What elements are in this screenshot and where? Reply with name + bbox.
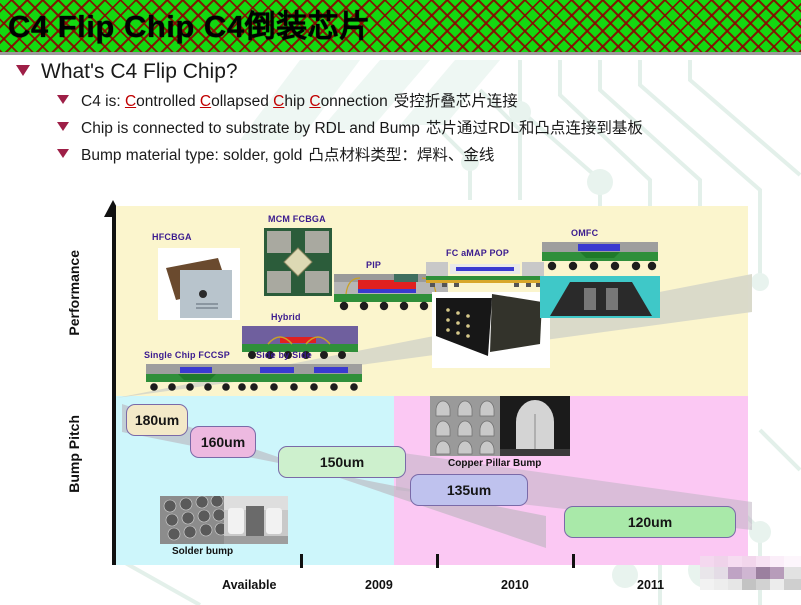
bullet-item-2-chinese: 芯片通过RDL和凸点连接到基板	[426, 120, 643, 137]
bullet-item-3-chinese: 凸点材料类型：焊料、金线	[308, 147, 494, 164]
package-label-hybrid: Hybrid	[271, 312, 301, 322]
pitch-box-135um[interactable]: 135um	[410, 474, 528, 506]
package-label-side-by-side: Side by Side	[256, 350, 312, 360]
copper-pillar-bump-photo	[430, 396, 570, 456]
package-photo-mcm-fcbga	[264, 228, 332, 296]
x-tick-2011	[572, 554, 575, 568]
package-photo-omfc	[540, 242, 660, 274]
plot-area: HFCBGA MCM FCBGA Hybrid	[112, 206, 748, 565]
y-axis-label-bump-pitch: Bump Pitch	[66, 415, 82, 493]
bullet-item-1-text: C4 is: Controlled Collapsed Chip Connect…	[81, 89, 518, 111]
y-axis-label-performance: Performance	[66, 250, 82, 336]
solder-bump-photo	[160, 496, 288, 544]
x-axis-label-2010: 2010	[501, 578, 529, 592]
bullet-list: What's C4 Flip Chip? C4 is: Controlled C…	[0, 60, 801, 165]
page-title: C4 Flip Chip C4倒装芯片	[8, 11, 371, 42]
package-label-single-chip-fccsp: Single Chip FCCSP	[144, 350, 230, 360]
package-photo-single-chip-fccsp	[144, 364, 250, 394]
bullet-item-3-text: Bump material type: solder, gold凸点材料类型：焊…	[81, 143, 494, 165]
caption-solder-bump: Solder bump	[172, 546, 233, 557]
package-label-omfc: OMFC	[571, 228, 598, 238]
triangle-bullet-icon	[16, 65, 30, 76]
package-photo-fc-amap-pop	[426, 262, 544, 292]
caption-copper-pillar-bump: Copper Pillar Bump	[448, 458, 541, 469]
package-label-pip: PIP	[366, 260, 381, 270]
triangle-bullet-icon	[57, 122, 69, 131]
x-axis-label-2009: 2009	[365, 578, 393, 592]
pitch-box-120um[interactable]: 120um	[564, 506, 736, 538]
bullet-item-1: C4 is: Controlled Collapsed Chip Connect…	[57, 89, 801, 111]
pitch-box-150um[interactable]: 150um	[278, 446, 406, 478]
x-axis-label-2011: 2011	[637, 578, 664, 592]
package-photo-hfcbga	[158, 248, 240, 320]
bullet-item-1-chinese: 受控折叠芯片连接	[394, 93, 518, 110]
bullet-heading-text: What's C4 Flip Chip?	[41, 60, 238, 84]
x-tick-2010	[436, 554, 439, 568]
pixelated-watermark	[700, 556, 801, 590]
x-tick-2009	[300, 554, 303, 568]
bullet-item-2-text: Chip is connected to substrate by RDL an…	[81, 116, 643, 138]
pitch-box-180um[interactable]: 180um	[126, 404, 188, 436]
x-axis-label-available: Available	[222, 578, 276, 592]
package-photo-fc-amap-pop-array	[432, 292, 550, 368]
package-photo-omfc-detail	[540, 276, 660, 318]
package-label-mcm-fcbga: MCM FCBGA	[268, 214, 326, 224]
package-photo-side-by-side	[244, 364, 364, 394]
bullet-heading-row: What's C4 Flip Chip?	[16, 60, 801, 84]
bullet-item-3: Bump material type: solder, gold凸点材料类型：焊…	[57, 143, 801, 165]
bullet-item-2: Chip is connected to substrate by RDL an…	[57, 116, 801, 138]
package-label-fc-amap-pop: FC aMAP POP	[446, 248, 509, 258]
roadmap-chart: Performance Bump Pitch HFCBGA	[68, 200, 768, 595]
slide-title-bar: C4 Flip Chip C4倒装芯片	[0, 0, 801, 55]
pitch-box-160um[interactable]: 160um	[190, 426, 256, 458]
triangle-bullet-icon	[57, 149, 69, 158]
triangle-bullet-icon	[57, 95, 69, 104]
package-label-hfcbga: HFCBGA	[152, 232, 192, 242]
